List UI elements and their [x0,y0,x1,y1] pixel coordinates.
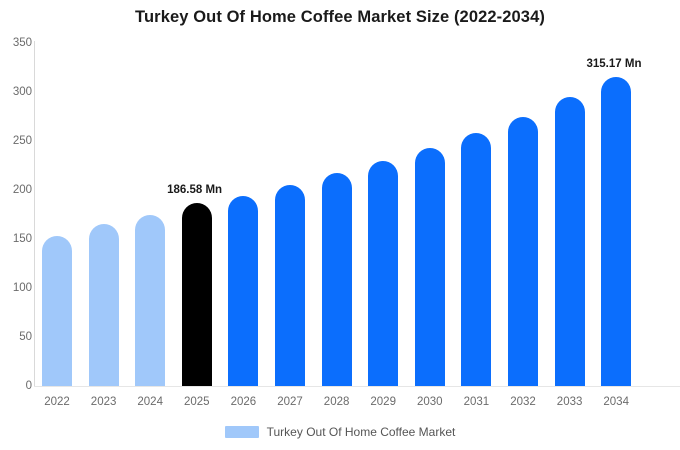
bar-2030[interactable] [415,148,445,386]
legend-series-label: Turkey Out Of Home Coffee Market [267,425,456,439]
bars-container: 2022202320242025202620272028202920302031… [0,0,680,450]
bar-2025[interactable] [182,203,212,386]
x-axis-tick-label-2031: 2031 [453,396,499,408]
bar-2033[interactable] [555,97,585,386]
x-axis-tick-label-2022: 2022 [34,396,80,408]
x-axis-tick-label-2027: 2027 [267,396,313,408]
bar-chart: Turkey Out Of Home Coffee Market Size (2… [0,0,680,450]
bar-2032[interactable] [508,117,538,386]
bar-2026[interactable] [228,196,258,386]
legend-swatch-icon [225,426,259,438]
x-axis-tick-label-2032: 2032 [500,396,546,408]
x-axis-tick-label-2034: 2034 [593,396,639,408]
x-axis-tick-label-2025: 2025 [174,396,220,408]
x-axis-tick-label-2023: 2023 [81,396,127,408]
x-axis-tick-label-2026: 2026 [220,396,266,408]
bar-2022[interactable] [42,236,72,386]
x-axis-tick-label-2028: 2028 [314,396,360,408]
bar-2028[interactable] [322,173,352,386]
chart-legend: Turkey Out Of Home Coffee Market [0,425,680,439]
bar-2031[interactable] [461,133,491,386]
bar-value-label-2025: 186.58 Mn [167,184,222,196]
bar-2023[interactable] [89,224,119,386]
x-axis-tick-label-2029: 2029 [360,396,406,408]
x-axis-tick-label-2033: 2033 [547,396,593,408]
bar-2034[interactable] [601,77,631,386]
bar-value-label-2034: 315.17 Mn [587,58,642,70]
bar-2029[interactable] [368,161,398,386]
x-axis-tick-label-2030: 2030 [407,396,453,408]
bar-2024[interactable] [135,215,165,386]
bar-2027[interactable] [275,185,305,386]
x-axis-tick-label-2024: 2024 [127,396,173,408]
